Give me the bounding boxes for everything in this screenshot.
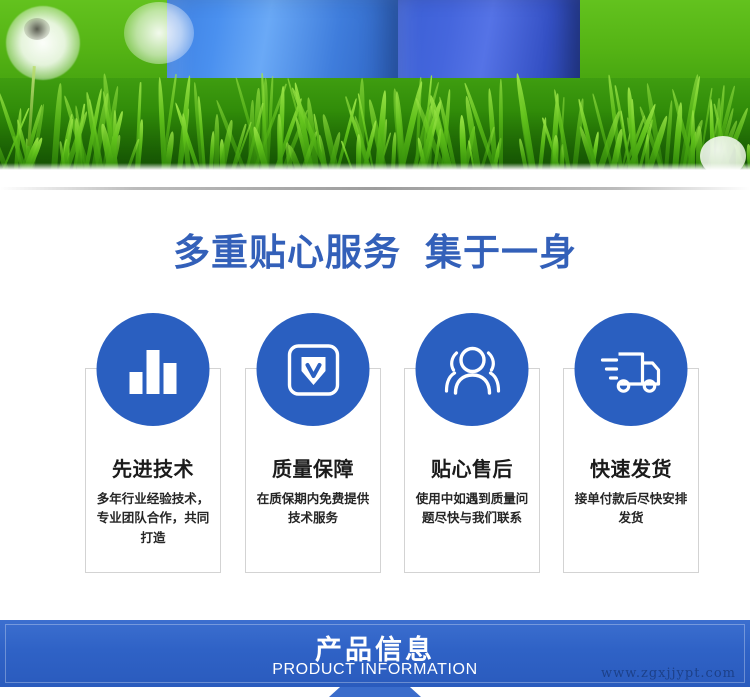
icon-circle [416,313,529,426]
feature-card-title: 先进技术 [85,453,221,482]
people-group-icon [440,341,504,399]
feature-card-list: 先进技术 质量保障 贴心售后 快速发货 多年行业经验技术，专业团队合作，共同打造… [0,313,750,568]
icon-circle [97,313,210,426]
headline-part-2: 集于一身 [425,231,577,274]
dandelion-core [24,18,50,40]
product-detail-page: 多重贴心服务集于一身 [0,0,750,697]
hero-banner-image [0,0,750,170]
feature-icon-wrap [245,313,381,426]
quality-shield-check-icon [283,340,343,400]
feature-icon-wrap [85,313,221,426]
site-watermark: www.zgxjjypt.com [601,666,736,681]
feature-card-description: 多年行业经验技术，专业团队合作，共同打造 [91,489,215,547]
icon-circle [257,313,370,426]
dandelion-secondary [124,2,194,64]
delivery-truck-icon [598,344,664,396]
headline-part-1: 多重贴心服务 [173,231,401,274]
feature-card-description: 在质保期内免费提供技术服务 [251,489,375,528]
feature-card-description: 接单付款后尽快安排发货 [569,489,693,528]
bar-chart-icon [124,344,182,396]
feature-card-title: 贴心售后 [404,453,540,482]
feature-card-description: 使用中如遇到质量问题尽快与我们联系 [410,489,534,528]
icon-circle [575,313,688,426]
dandelion-icon [6,6,80,80]
hero-fade [0,163,750,170]
feature-card-title: 质量保障 [245,453,381,482]
feature-icon-wrap [563,313,699,426]
feature-card-title: 快速发货 [563,453,699,482]
feature-icon-wrap [404,313,540,426]
section-divider [0,187,750,190]
page-title: 多重贴心服务集于一身 [0,222,750,276]
banner-bottom-tab [329,687,421,697]
